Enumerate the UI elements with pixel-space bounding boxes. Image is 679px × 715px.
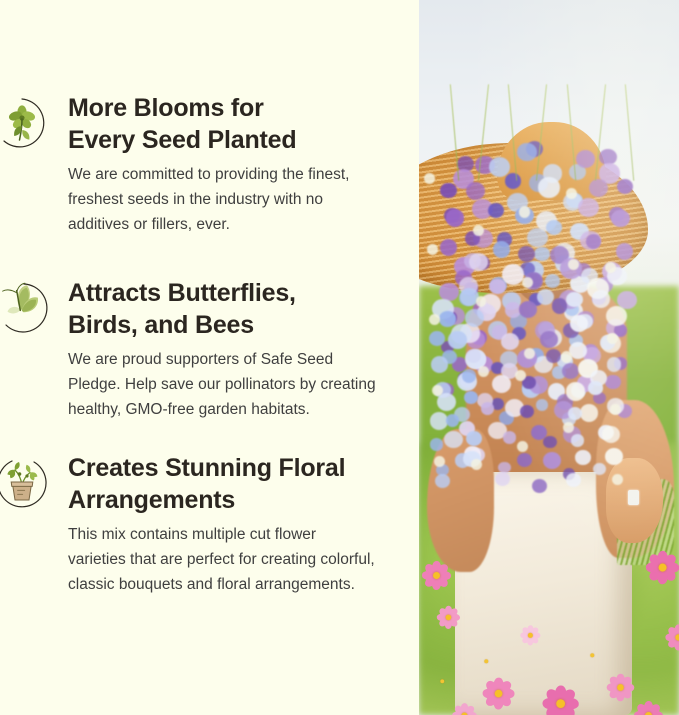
potted-plant-icon [0,455,50,511]
delphinium-bouquet [424,136,668,508]
feature-title: Attracts Butterflies, Birds, and Bees [68,277,405,341]
feature-description: We are committed to providing the finest… [68,162,405,237]
butterfly-icon [0,280,50,336]
photo-stage [419,0,679,715]
promo-feature-panel: More Blooms for Every Seed Planted We ar… [0,0,679,715]
feature-description: We are proud supporters of Safe Seed Ple… [68,347,405,422]
feature-title: Creates Stunning Floral Arrangements [68,452,405,516]
feature-item-attracts-pollinators: Attracts Butterflies, Birds, and Bees We… [0,277,419,422]
feature-title: More Blooms for Every Seed Planted [68,92,405,156]
feature-description: This mix contains multiple cut flower va… [68,522,405,597]
woman-holding-delphinium-bouquet-photo [419,0,679,715]
feature-text-block: Creates Stunning Floral Arrangements Thi… [50,452,419,597]
features-text-panel: More Blooms for Every Seed Planted We ar… [0,0,419,715]
feature-text-block: More Blooms for Every Seed Planted We ar… [50,92,419,237]
flower-sprout-icon [0,95,50,151]
feature-text-block: Attracts Butterflies, Birds, and Bees We… [50,277,419,422]
feature-item-floral-arrangements: Creates Stunning Floral Arrangements Thi… [0,452,419,597]
feature-item-more-blooms: More Blooms for Every Seed Planted We ar… [0,92,419,237]
